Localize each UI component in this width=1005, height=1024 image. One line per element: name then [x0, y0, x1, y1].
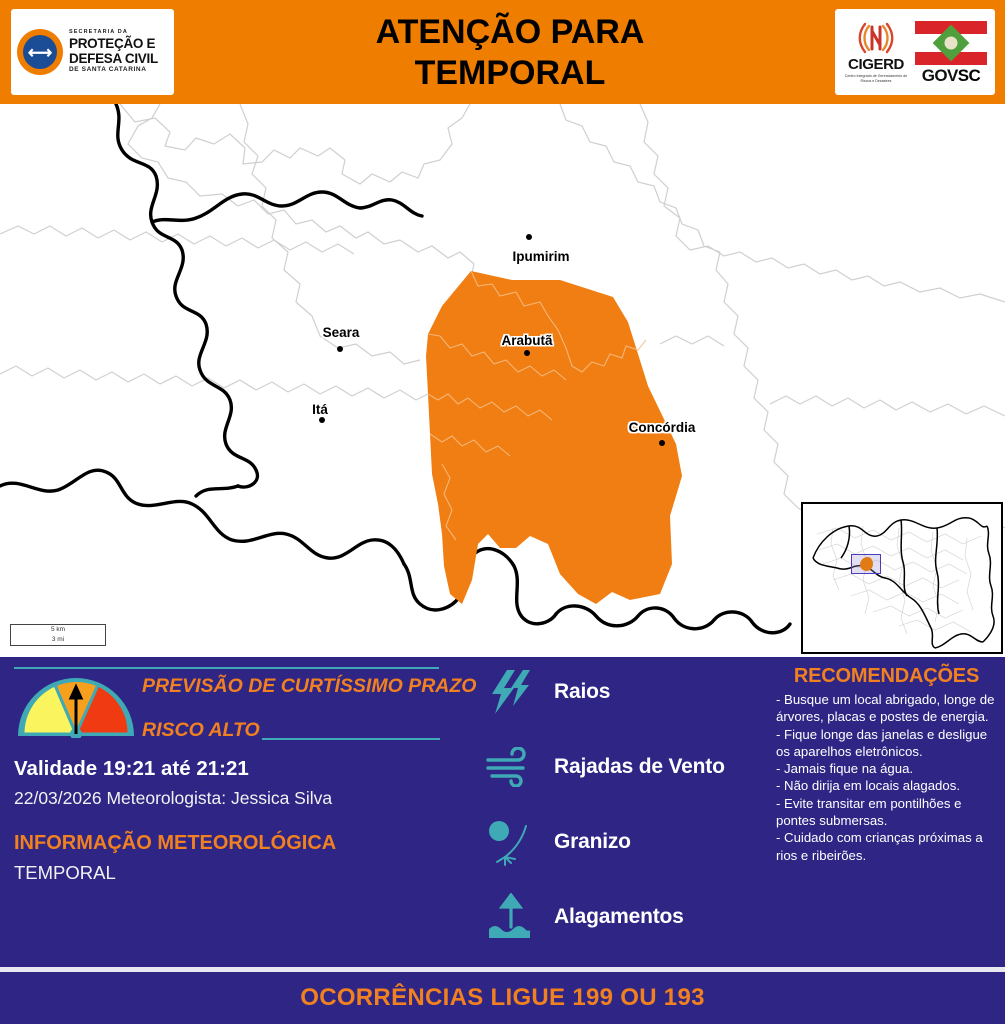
- divider-top: [14, 667, 439, 669]
- hazard-item-raios: Raios: [482, 665, 610, 719]
- cigerd-logo: CIGERD Centro Integrado de Gerenciamento…: [841, 21, 911, 83]
- title-line-2: TEMPORAL: [415, 53, 606, 94]
- alert-area-polygon: [426, 271, 682, 604]
- city-label-ipumirim: Ipumirim: [512, 249, 569, 264]
- recommendation-item: - Fique longe das janelas e desligue os …: [776, 726, 1002, 761]
- divider-risk: [262, 738, 440, 740]
- city-dot-ipumirim: [526, 234, 532, 240]
- civil-defense-logo: ⟷ SECRETARIA DA PROTEÇÃO E DEFESA CIVIL …: [11, 9, 174, 95]
- civil-defense-emblem-icon: ⟷: [17, 29, 63, 75]
- state-inset-map[interactable]: [801, 502, 1003, 654]
- hazard-label-granizo: Granizo: [554, 830, 631, 854]
- lightning-icon: [482, 666, 540, 718]
- logo-santa-catarina-label: DE SANTA CATARINA: [69, 67, 158, 74]
- recommendations-list: - Busque um local abrigado, longe de árv…: [776, 691, 1002, 864]
- city-label-concordia: Concórdia: [629, 420, 696, 435]
- partner-logos: CIGERD Centro Integrado de Gerenciamento…: [835, 9, 995, 95]
- cigerd-waves-icon: [841, 21, 911, 55]
- emergency-phone-text: OCORRÊNCIAS LIGUE 199 OU 193: [300, 984, 705, 1012]
- gov-sc-label: GOVSC: [913, 67, 989, 84]
- alert-map[interactable]: Ipumirim Seara Arabutã Concórdia Itá 5 k…: [0, 104, 1005, 657]
- recommendation-item: - Evite transitar em pontilhões e pontes…: [776, 795, 1002, 830]
- meteorologist-text: 22/03/2026 Meteorologista: Jessica Silva: [14, 788, 332, 809]
- hazard-item-alagamentos: Alagamentos: [482, 890, 684, 944]
- city-dot-ita: [319, 417, 325, 423]
- recommendation-item: - Não dirija em locais alagados.: [776, 777, 1002, 794]
- flood-icon: [482, 891, 540, 943]
- risk-level-label: RISCO ALTO: [142, 719, 260, 742]
- logo-protecao-label: PROTEÇÃO E: [69, 37, 158, 51]
- recommendations-title: RECOMENDAÇÕES: [768, 665, 1005, 688]
- recommendation-item: - Jamais fique na água.: [776, 760, 1002, 777]
- hazard-label-raios: Raios: [554, 680, 610, 704]
- hazard-label-alagamentos: Alagamentos: [554, 905, 684, 929]
- map-scale-bar: 5 km 3 mi: [10, 624, 106, 646]
- recommendations-block: RECOMENDAÇÕES - Busque um local abrigado…: [768, 657, 1005, 967]
- city-label-seara: Seara: [323, 325, 360, 340]
- hail-icon: [482, 816, 540, 868]
- info-panel: PREVISÃO DE CURTÍSSIMO PRAZO RISCO ALTO …: [0, 657, 1005, 967]
- header-banner: ⟷ SECRETARIA DA PROTEÇÃO E DEFESA CIVIL …: [0, 0, 1005, 104]
- gov-sc-logo: GOVSC: [913, 21, 989, 84]
- inset-vector-layer: [803, 504, 1001, 652]
- city-dot-arabuta: [524, 350, 530, 356]
- scale-mi-label: 3 mi: [52, 636, 64, 643]
- info-body-text: TEMPORAL: [14, 862, 116, 884]
- cigerd-name-label: CIGERD: [841, 57, 911, 72]
- hazard-item-granizo: Granizo: [482, 815, 631, 869]
- forecast-block: PREVISÃO DE CURTÍSSIMO PRAZO RISCO ALTO …: [0, 657, 460, 967]
- logo-defesa-civil-label: DEFESA CIVIL: [69, 52, 158, 66]
- forecast-title: PREVISÃO DE CURTÍSSIMO PRAZO: [142, 675, 476, 698]
- santa-catarina-flag-icon: [915, 21, 987, 65]
- city-label-arabuta: Arabutã: [501, 333, 552, 348]
- scale-km-label: 5 km: [51, 626, 65, 633]
- city-label-ita: Itá: [312, 402, 328, 417]
- cigerd-subtitle-label: Centro Integrado de Gerenciamento de Ris…: [841, 74, 911, 83]
- logo-secretaria-label: SECRETARIA DA: [69, 30, 158, 36]
- city-dot-seara: [337, 346, 343, 352]
- title-line-1: ATENÇÃO PARA: [376, 12, 645, 53]
- info-heading: INFORMAÇÃO METEOROLÓGICA: [14, 832, 336, 855]
- validity-text: Validade 19:21 até 21:21: [14, 757, 249, 781]
- wind-icon: [482, 741, 540, 793]
- page-title: ATENÇÃO PARA TEMPORAL: [190, 8, 830, 98]
- hazard-label-rajadas-de-vento: Rajadas de Vento: [554, 755, 725, 779]
- inset-alert-blob: [860, 557, 873, 571]
- city-dot-concordia: [659, 440, 665, 446]
- recommendation-item: - Busque um local abrigado, longe de árv…: [776, 691, 1002, 726]
- recommendation-item: - Cuidado com crianças próximas a rios e…: [776, 829, 1002, 864]
- hazard-list: Raios Rajadas de Vento: [460, 657, 760, 967]
- alert-poster: ⟷ SECRETARIA DA PROTEÇÃO E DEFESA CIVIL …: [0, 0, 1005, 1024]
- risk-gauge: [14, 674, 138, 738]
- hazard-item-rajadas-de-vento: Rajadas de Vento: [482, 740, 725, 794]
- footer-bar: OCORRÊNCIAS LIGUE 199 OU 193: [0, 972, 1005, 1024]
